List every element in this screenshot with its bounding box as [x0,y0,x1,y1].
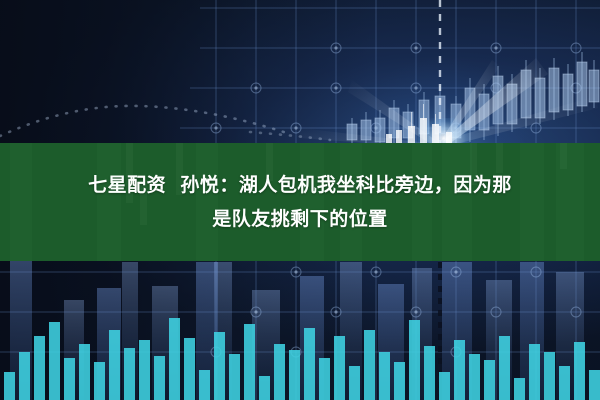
headline-banner: 七星配资 孙悦：湖人包机我坐科比旁边，因为那 是队友挑剩下的位置 [0,143,600,261]
headline-line-2: 是队友挑剩下的位置 [212,202,388,236]
banner-image: 七星配资 孙悦：湖人包机我坐科比旁边，因为那 是队友挑剩下的位置 [0,0,600,400]
headline-line-1: 七星配资 孙悦：湖人包机我坐科比旁边，因为那 [88,168,512,202]
